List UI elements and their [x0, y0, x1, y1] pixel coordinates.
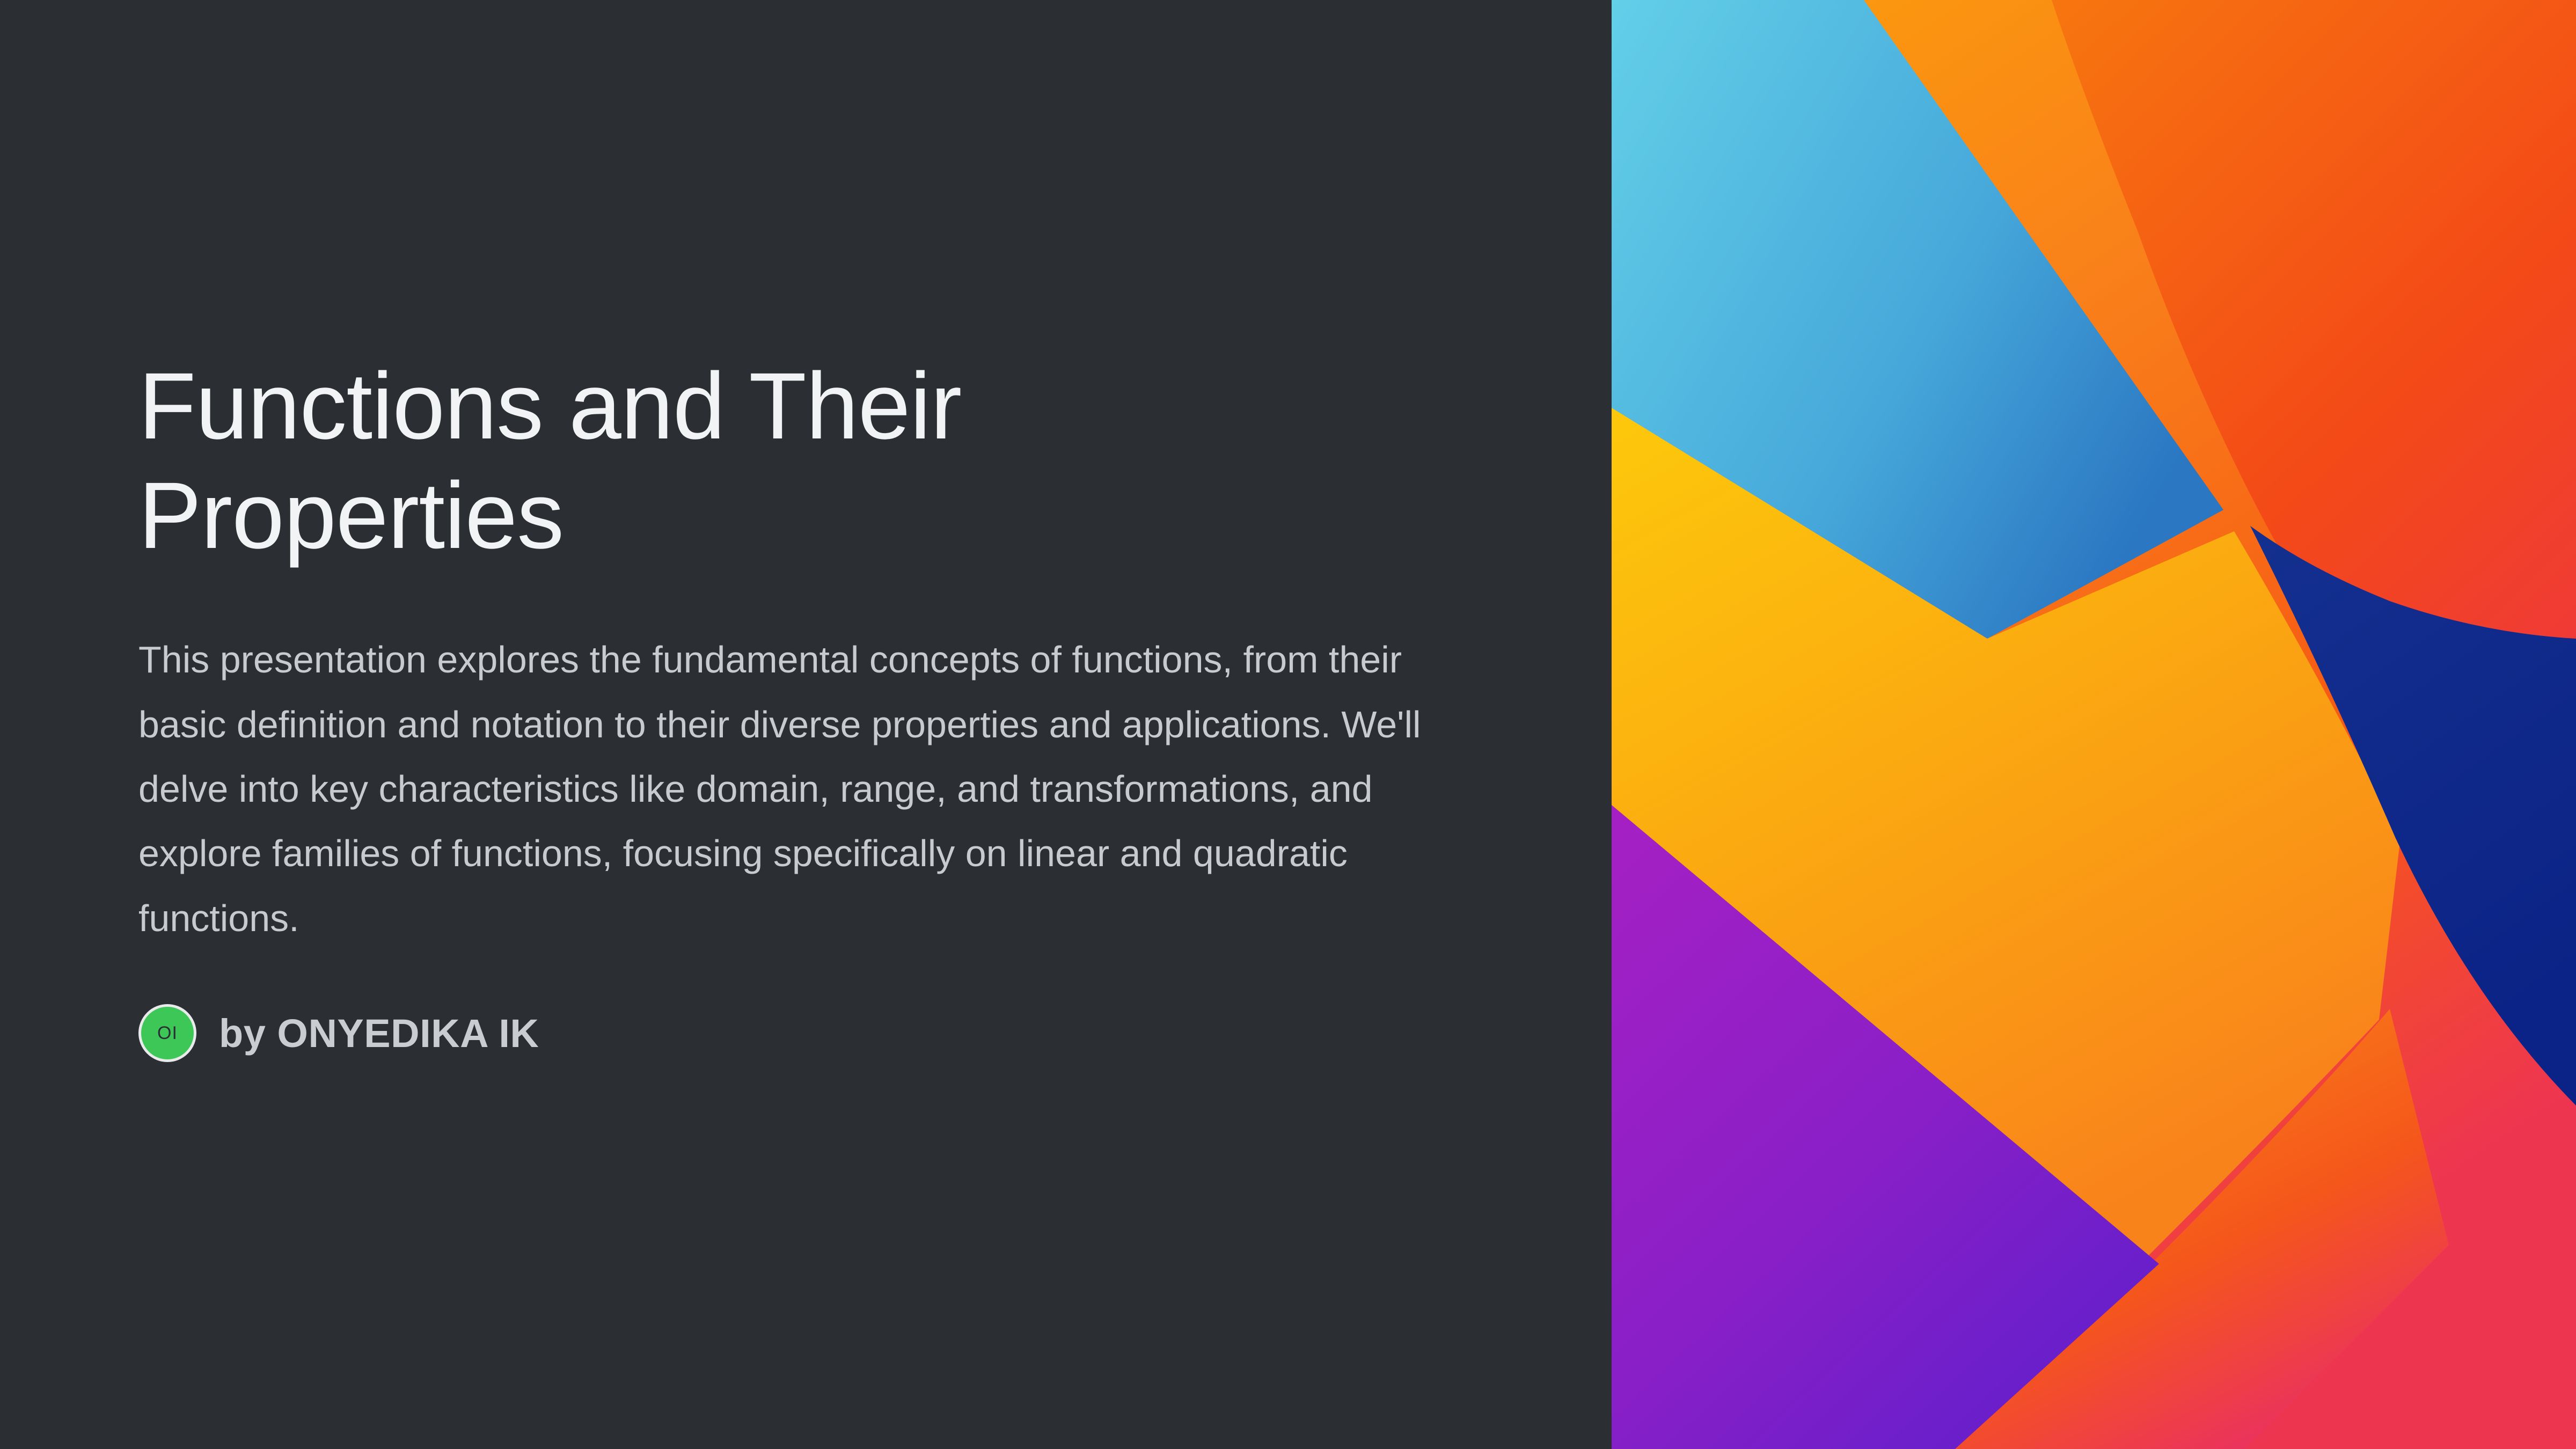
abstract-gradient-artwork	[1612, 0, 2576, 1449]
byline: OI by ONYEDIKA IK	[138, 1004, 1512, 1062]
avatar: OI	[138, 1004, 196, 1062]
slide-description: This presentation explores the fundament…	[138, 627, 1469, 950]
abstract-gradient-svg	[1612, 0, 2576, 1449]
left-text-panel: Functions and Their Properties This pres…	[0, 0, 1612, 1449]
presentation-title-slide: Functions and Their Properties This pres…	[0, 0, 2576, 1449]
page-title: Functions and Their Properties	[138, 352, 1115, 570]
byline-author-name: by ONYEDIKA IK	[219, 1011, 539, 1056]
title-slide-content: Functions and Their Properties This pres…	[138, 352, 1512, 1062]
avatar-initials: OI	[157, 1024, 178, 1042]
